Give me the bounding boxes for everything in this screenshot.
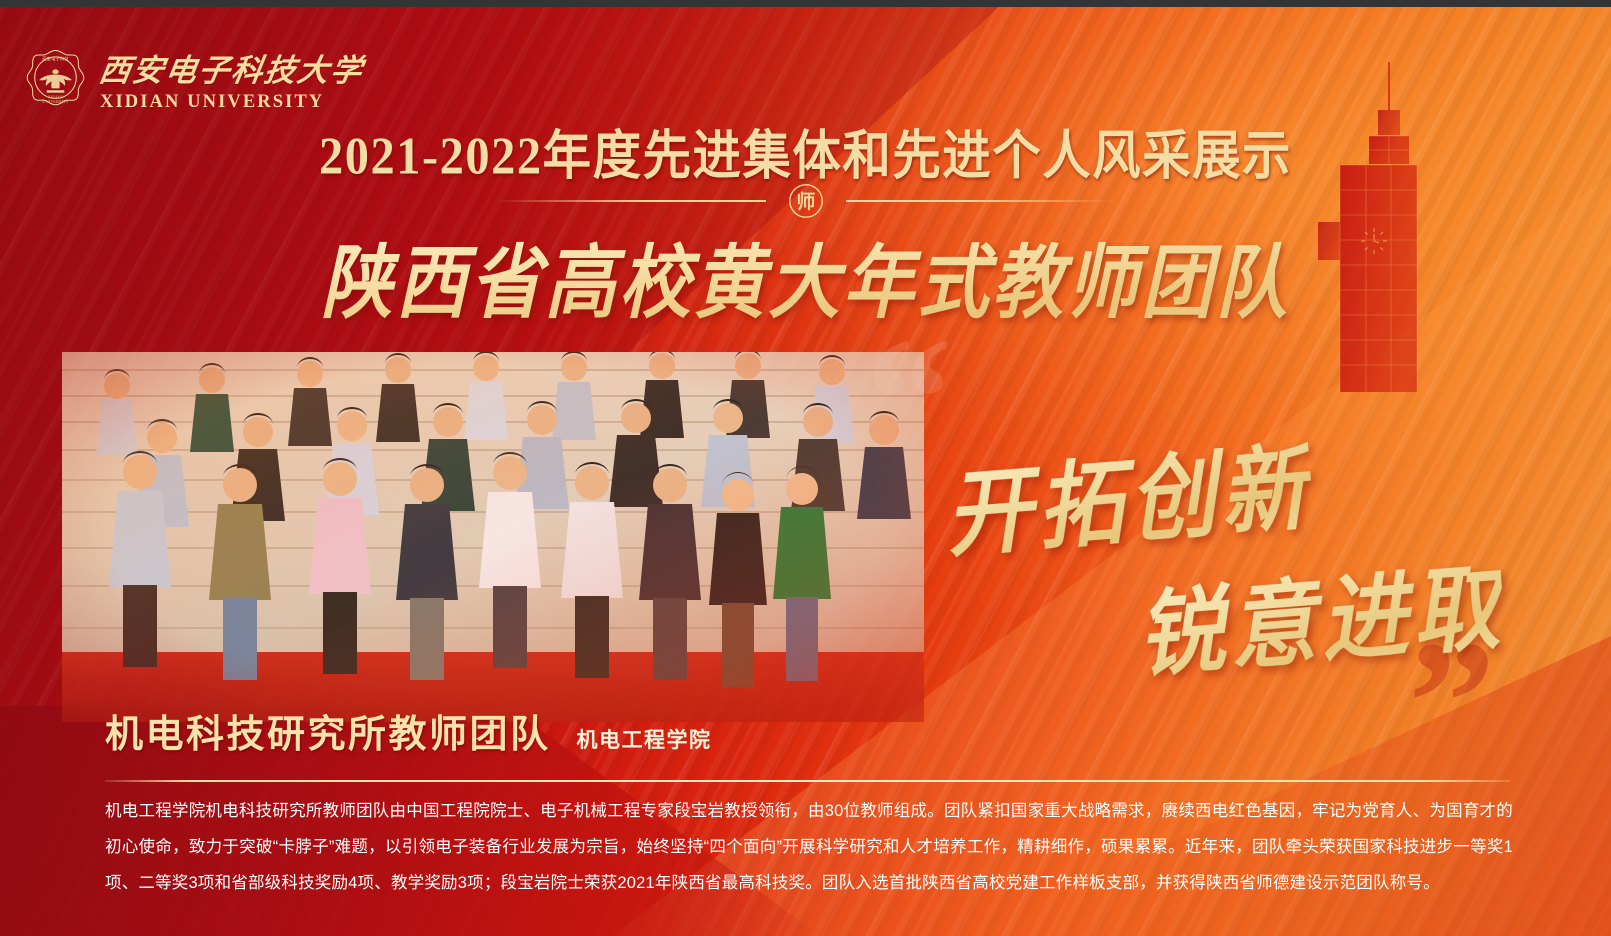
page-subtitle: 陕西省高校黄大年式教师团队 <box>0 217 1611 334</box>
teacher-seal-icon: 师 <box>788 183 824 219</box>
seal-character: 师 <box>796 191 815 213</box>
logo-name-en: XIDIAN UNIVERSITY <box>100 92 324 113</box>
team-heading: 机电科技研究所教师团队 机电工程学院 <box>105 703 712 758</box>
page-title: 2021-2022年度先进集体和先进个人风采展示 <box>0 112 1611 189</box>
team-description: 机电工程学院机电科技研究所教师团队由中国工程院院士、电子机械工程专家段宝岩教授领… <box>105 793 1513 901</box>
seal-divider: 师 <box>0 183 1611 219</box>
divider-line-left <box>496 200 766 202</box>
xidian-university-seal-icon: 西安电子科技 XIDIAN UNIVERSITY <box>24 48 87 111</box>
team-department: 机电工程学院 <box>577 724 712 754</box>
svg-text:UNIVERSITY: UNIVERSITY <box>42 98 69 103</box>
team-group-photo <box>62 352 924 722</box>
gold-divider-rule <box>105 780 1510 782</box>
logo-name-cn: 西安电子科技大学 <box>96 45 367 90</box>
window-top-bar <box>0 0 1611 7</box>
slogan-line-2: 锐意进取 <box>1132 532 1509 696</box>
divider-line-right <box>846 200 1116 202</box>
award-poster: “ ” 西安电子科技 XIDIAN UNIVERSITY 西安电子科技大学 XI… <box>0 0 1611 936</box>
team-name: 机电科技研究所教师团队 <box>105 703 551 758</box>
svg-text:西安电子科技: 西安电子科技 <box>42 55 69 62</box>
university-logo: 西安电子科技 XIDIAN UNIVERSITY 西安电子科技大学 XIDIAN… <box>24 45 364 113</box>
